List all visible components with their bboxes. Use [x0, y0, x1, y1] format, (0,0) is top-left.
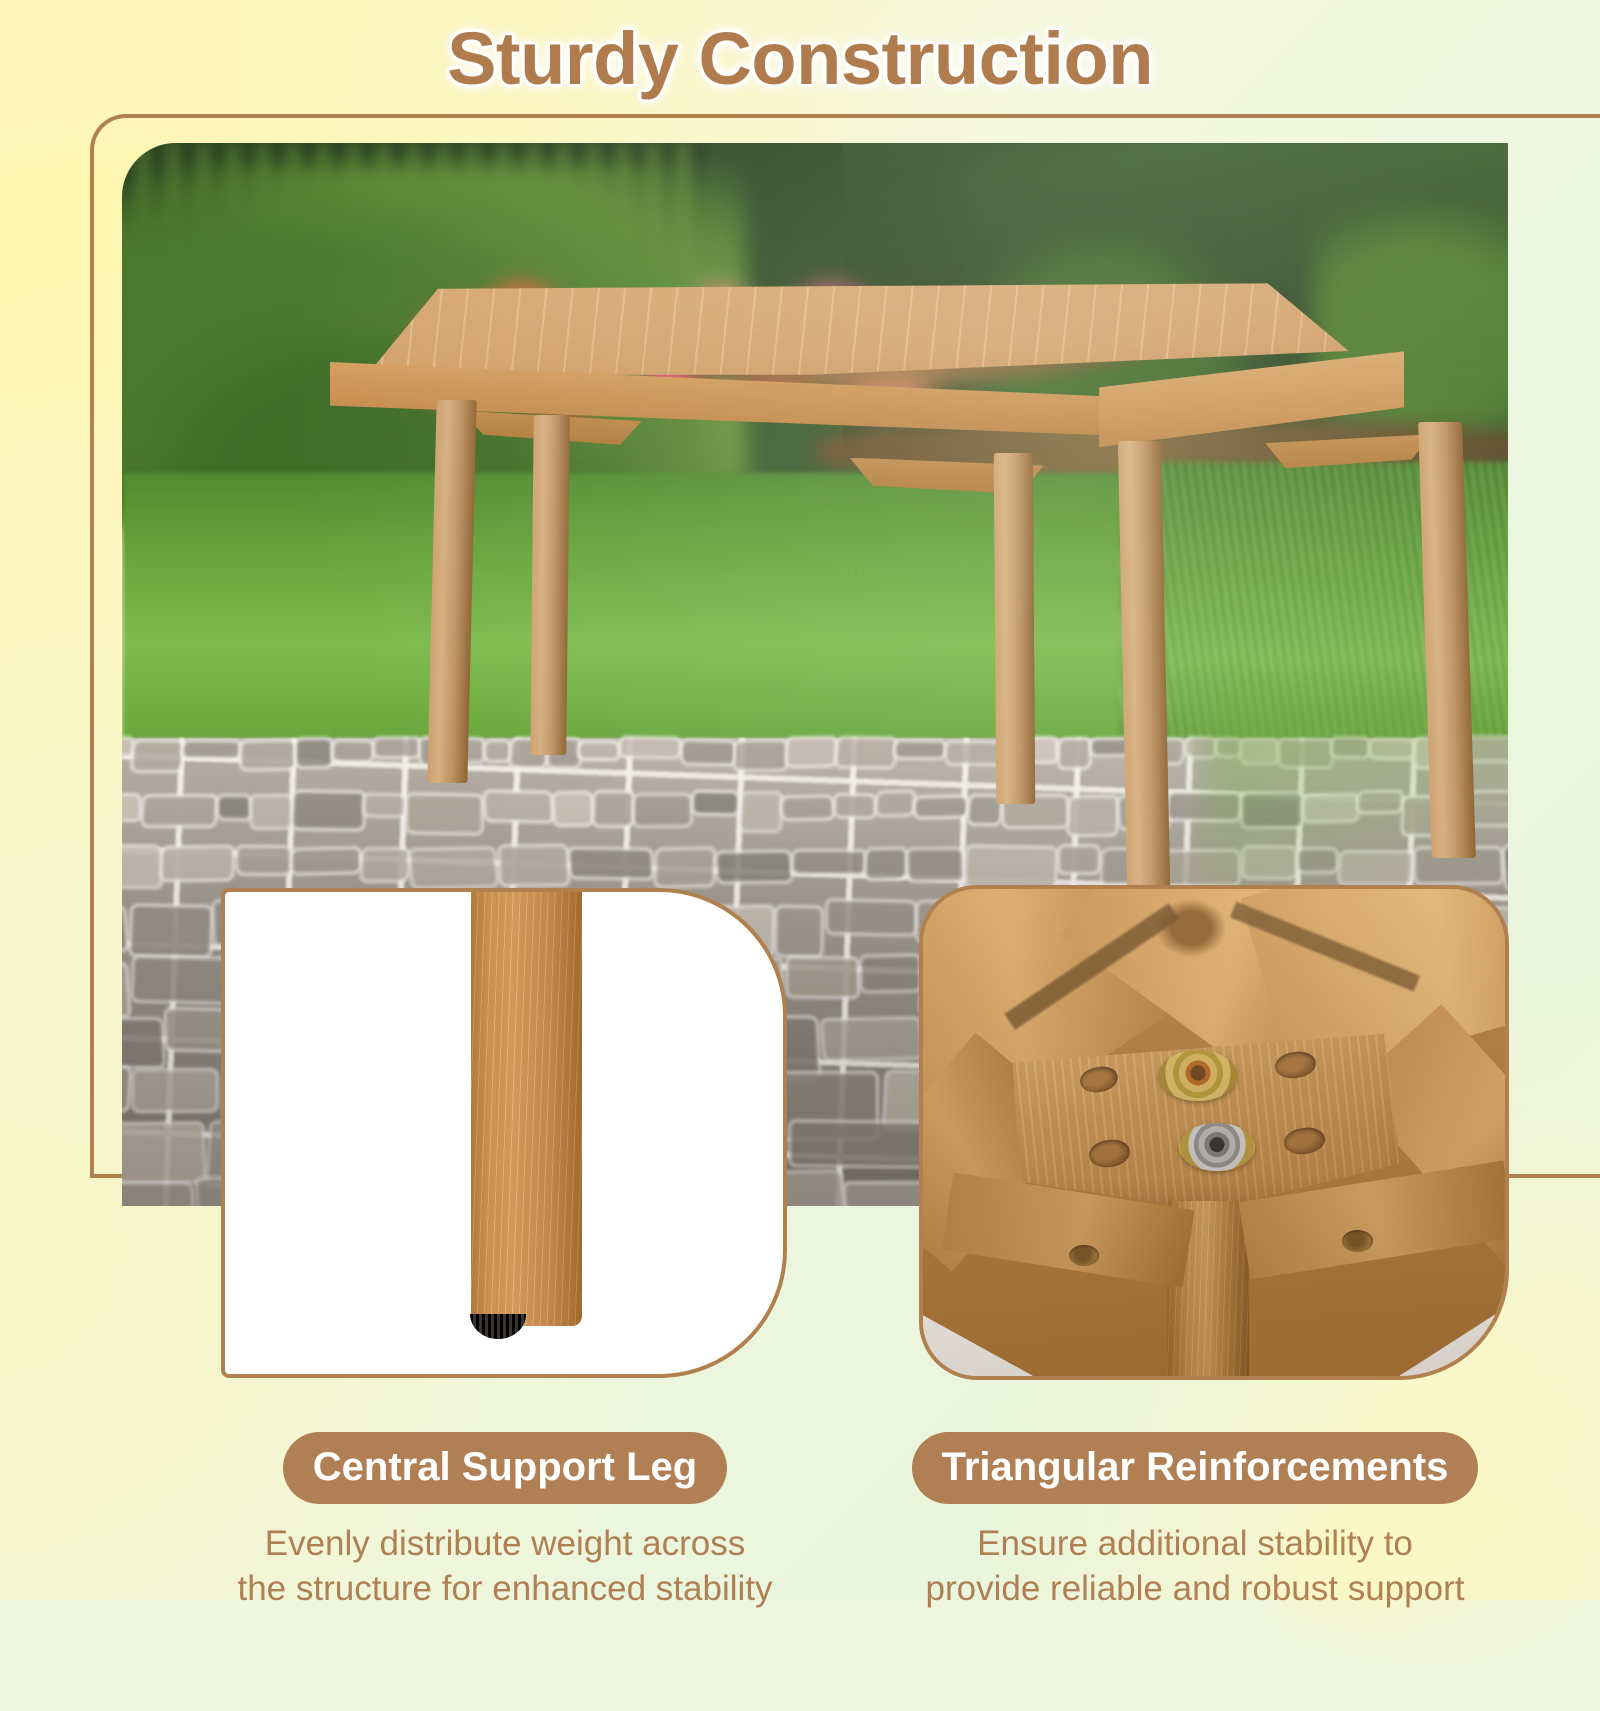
bracket-closeup: [923, 889, 1505, 1376]
caption-line-1: Ensure additional stability to: [880, 1522, 1510, 1567]
caption-line-2: the structure for enhanced stability: [190, 1567, 820, 1612]
support-leg-closeup: [471, 888, 583, 1326]
badge-triangular-reinforcements: Triangular Reinforcements: [912, 1432, 1479, 1504]
feature-caption-left: Central Support Leg Evenly distribute we…: [190, 1432, 820, 1612]
page-title: Sturdy Construction: [0, 16, 1600, 101]
badge-central-support-leg: Central Support Leg: [283, 1432, 727, 1504]
rubber-foot-pad-icon: [471, 1314, 527, 1339]
caption-text-central-support-leg: Evenly distribute weight across the stru…: [190, 1522, 820, 1612]
detail-panel-central-support-leg: [221, 888, 787, 1378]
feature-caption-right: Triangular Reinforcements Ensure additio…: [880, 1432, 1510, 1612]
caption-text-triangular-reinforcements: Ensure additional stability to provide r…: [880, 1522, 1510, 1612]
bracket-shading-overlay: [923, 889, 1505, 1376]
caption-line-2: provide reliable and robust support: [880, 1567, 1510, 1612]
support-leg-woodgrain: [471, 888, 583, 1326]
detail-panel-triangular-reinforcements: [919, 885, 1509, 1380]
caption-line-1: Evenly distribute weight across: [190, 1522, 820, 1567]
